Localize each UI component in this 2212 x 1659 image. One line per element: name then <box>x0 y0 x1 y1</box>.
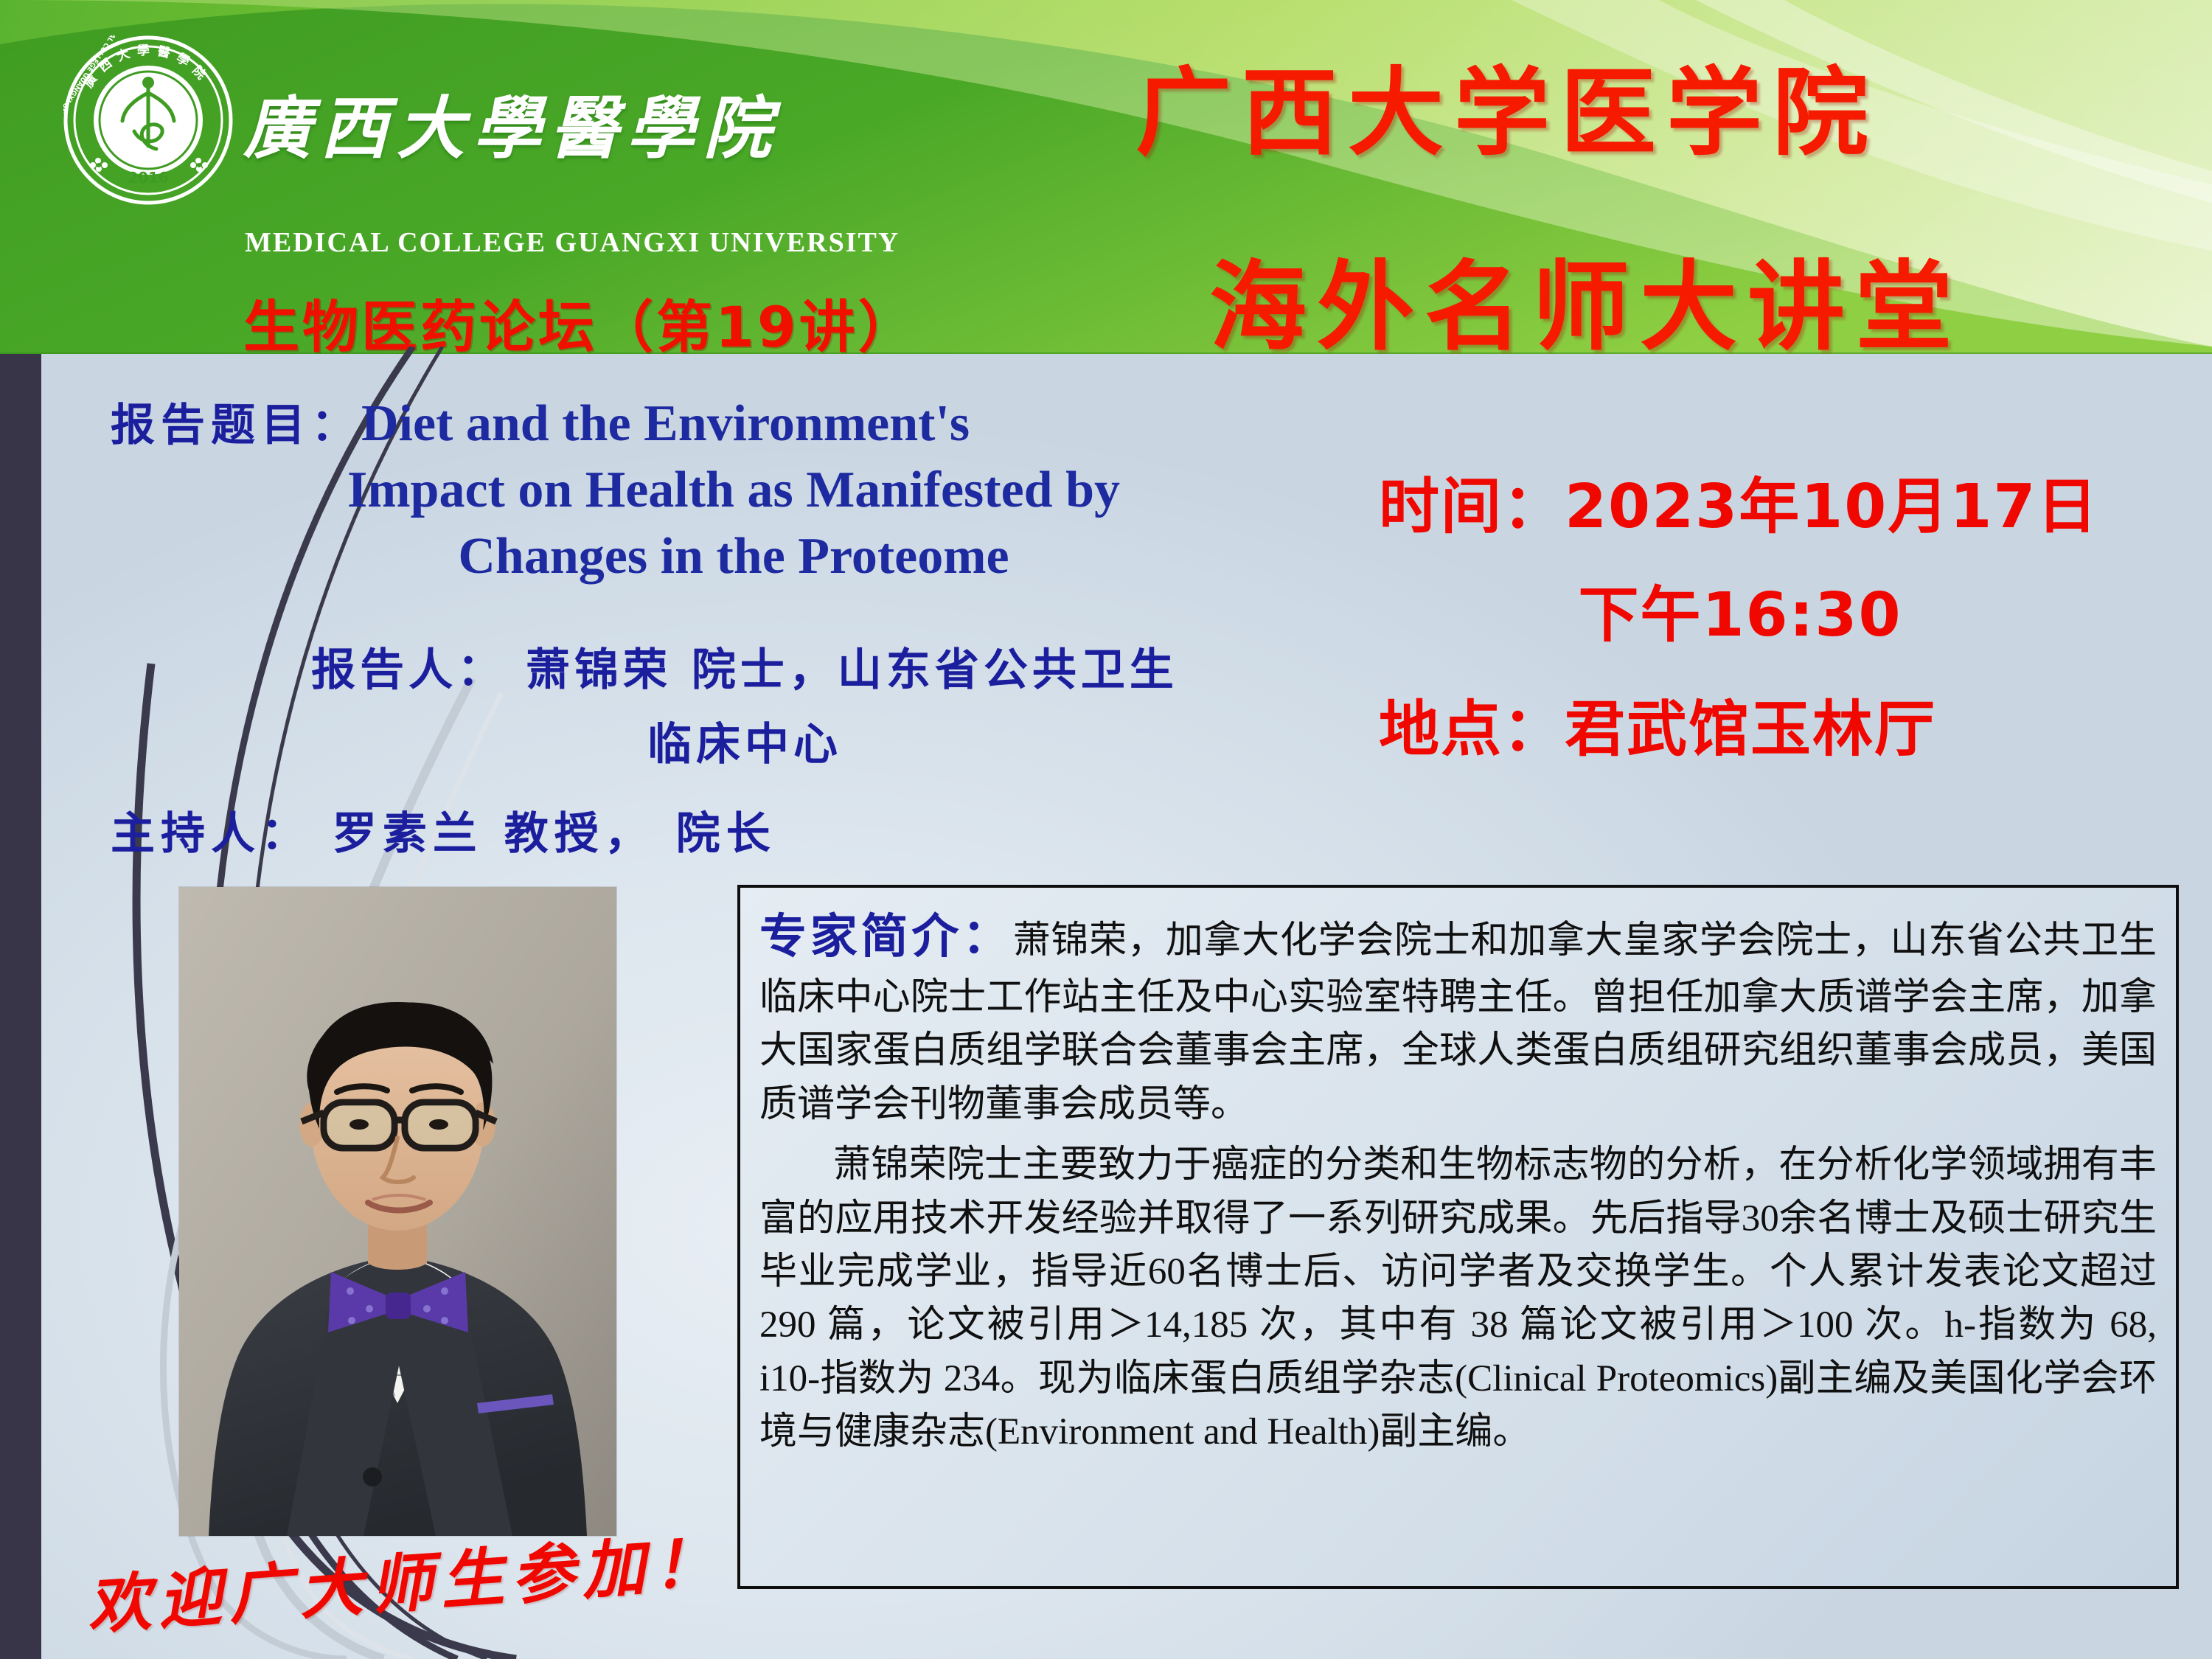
bio-heading: 专家简介： <box>759 910 1013 964</box>
university-name-en: MEDICAL COLLEGE GUANGXI UNIVERSITY <box>245 226 900 259</box>
emblem-icon: 廣 西 大 學 醫 學 院 <box>63 35 233 205</box>
speaker-line-1: 报告人： 萧锦荣 院士，山东省公共卫生 <box>111 634 1379 698</box>
emblem-year: 2016 <box>128 169 169 187</box>
speaker-block: 报告人： 萧锦荣 院士，山东省公共卫生 临床中心 <box>111 634 1379 773</box>
svg-text:院: 院 <box>189 63 209 83</box>
seminar-poster: 廣 西 大 學 醫 學 院 <box>0 0 2212 1659</box>
svg-text:醫: 醫 <box>156 44 172 61</box>
event-place: 地点：君武馆玉林厅 <box>1379 680 2190 768</box>
bio-paragraph-2: 萧锦荣院士主要致力于癌症的分类和生物标志物的分析，在分析化学领域拥有丰富的应用技… <box>759 1138 2157 1458</box>
host-line: 主持人： 罗素兰 教授， 院长 <box>111 798 776 862</box>
talk-title-line3: Changes in the Proteome <box>111 527 1357 586</box>
college-emblem: 廣 西 大 學 醫 學 院 <box>63 35 233 205</box>
speaker-line-2: 临床中心 <box>111 709 1379 773</box>
speaker-portrait <box>179 887 616 1536</box>
banner-title-secondary: 海外名师大讲堂 <box>1209 229 1963 354</box>
svg-text:學: 學 <box>174 51 192 70</box>
talk-title-line1: Diet and the Environment's <box>361 395 970 452</box>
poster-header: 廣 西 大 學 醫 學 院 <box>0 0 2212 354</box>
speaker-bio-box: 专家简介：萧锦荣，加拿大化学会院士和加拿大皇家学会院士，山东省公共卫生临床中心院… <box>737 885 2179 1589</box>
forum-series-label: 生物医药论坛（第19讲） <box>243 282 917 354</box>
event-time: 下午16:30 <box>1379 566 2190 653</box>
portrait-illustration <box>179 887 616 1536</box>
bio-paragraph-1: 专家简介：萧锦荣，加拿大化学会院士和加拿大皇家学会院士，山东省公共卫生临床中心院… <box>759 904 2157 1131</box>
talk-title-line2: Impact on Health as Manifested by <box>111 461 1357 520</box>
talk-title-label: 报告题目： <box>111 400 361 451</box>
event-date: 时间：2023年10月17日 <box>1379 457 2190 545</box>
university-name-cn: 廣西大學醫學院 <box>243 74 780 172</box>
svg-text:學: 學 <box>136 44 150 59</box>
talk-title-block: 报告题目：Diet and the Environment's Impact o… <box>111 389 1357 586</box>
event-meta-block: 时间：2023年10月17日 下午16:30 地点：君武馆玉林厅 <box>1379 457 2190 768</box>
banner-title-primary: 广西大学医学院 <box>1135 35 1879 174</box>
